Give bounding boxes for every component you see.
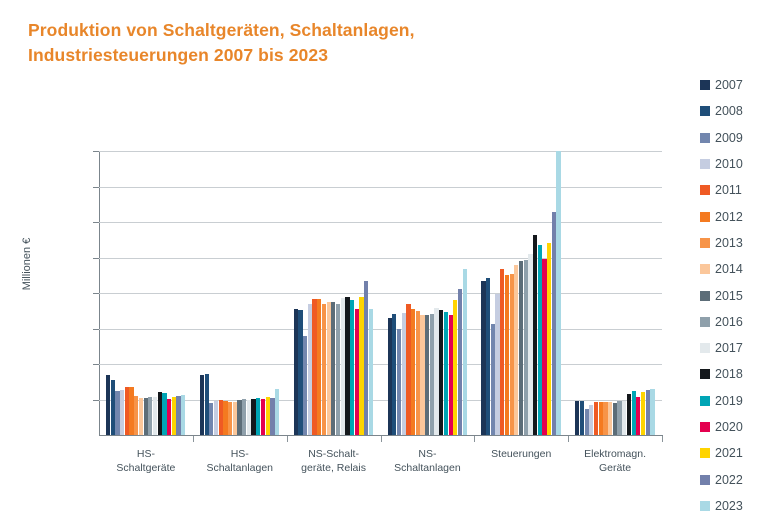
- legend-item-2010[interactable]: 2010: [700, 151, 778, 177]
- bar[interactable]: [322, 304, 326, 435]
- legend-item-2007[interactable]: 2007: [700, 72, 778, 98]
- legend-label: 2019: [715, 394, 743, 408]
- bar[interactable]: [341, 298, 345, 435]
- bar[interactable]: [495, 294, 499, 435]
- x-axis-divider: [568, 436, 569, 442]
- bar[interactable]: [327, 302, 331, 435]
- legend-item-2012[interactable]: 2012: [700, 203, 778, 229]
- bar[interactable]: [125, 387, 129, 435]
- legend-item-2020[interactable]: 2020: [700, 414, 778, 440]
- bar[interactable]: [200, 375, 204, 435]
- legend-label: 2014: [715, 262, 743, 276]
- bar[interactable]: [106, 375, 110, 435]
- bar[interactable]: [458, 289, 462, 435]
- bar[interactable]: [317, 299, 321, 435]
- legend-swatch-icon: [700, 159, 710, 169]
- bar-group: [474, 151, 568, 435]
- bar[interactable]: [402, 313, 406, 435]
- bar[interactable]: [430, 314, 434, 435]
- x-axis-divider: [381, 436, 382, 442]
- bar[interactable]: [632, 391, 636, 435]
- bar[interactable]: [345, 297, 349, 435]
- legend-swatch-icon: [700, 317, 710, 327]
- legend-swatch-icon: [700, 185, 710, 195]
- bar[interactable]: [214, 401, 218, 435]
- bar[interactable]: [355, 309, 359, 435]
- bar[interactable]: [646, 390, 650, 435]
- bar[interactable]: [524, 260, 528, 435]
- legend-label: 2015: [715, 289, 743, 303]
- bar[interactable]: [627, 394, 631, 435]
- bar[interactable]: [369, 309, 373, 435]
- legend-swatch-icon: [700, 369, 710, 379]
- bar[interactable]: [388, 318, 392, 435]
- legend-item-2008[interactable]: 2008: [700, 98, 778, 124]
- bar[interactable]: [205, 374, 209, 435]
- bar[interactable]: [364, 281, 368, 435]
- bar[interactable]: [416, 311, 420, 435]
- bar[interactable]: [233, 402, 237, 435]
- y-axis-title: Millionen €: [21, 209, 33, 319]
- bar[interactable]: [500, 269, 504, 435]
- bar[interactable]: [542, 259, 546, 435]
- bar[interactable]: [266, 397, 270, 435]
- legend-item-2009[interactable]: 2009: [700, 125, 778, 151]
- bar[interactable]: [463, 269, 467, 435]
- x-axis-category-label: HS- Schaltanlagen: [193, 447, 287, 475]
- x-axis-divider: [287, 436, 288, 442]
- bar[interactable]: [115, 391, 119, 435]
- bar[interactable]: [533, 235, 537, 435]
- bar[interactable]: [172, 397, 176, 435]
- bar[interactable]: [158, 392, 162, 435]
- bar[interactable]: [641, 392, 645, 435]
- bar[interactable]: [237, 400, 241, 435]
- bar[interactable]: [613, 403, 617, 435]
- legend-swatch-icon: [700, 133, 710, 143]
- legend-label: 2011: [715, 183, 742, 197]
- bar[interactable]: [397, 329, 401, 435]
- bar[interactable]: [406, 304, 410, 435]
- bar[interactable]: [303, 336, 307, 435]
- bar[interactable]: [636, 397, 640, 435]
- bar[interactable]: [308, 304, 312, 435]
- legend-swatch-icon: [700, 238, 710, 248]
- legend-label: 2007: [715, 78, 743, 92]
- legend-label: 2016: [715, 315, 743, 329]
- legend-label: 2010: [715, 157, 743, 171]
- bar[interactable]: [528, 254, 532, 435]
- bar[interactable]: [162, 393, 166, 435]
- bar[interactable]: [514, 265, 518, 435]
- bar[interactable]: [617, 401, 621, 435]
- bar[interactable]: [209, 403, 213, 435]
- legend-item-2011[interactable]: 2011: [700, 177, 778, 203]
- legend-swatch-icon: [700, 422, 710, 432]
- bar[interactable]: [350, 300, 354, 435]
- bar-group: [193, 151, 287, 435]
- legend-item-2016[interactable]: 2016: [700, 309, 778, 335]
- legend-label: 2023: [715, 499, 743, 513]
- bar[interactable]: [603, 402, 607, 435]
- bar[interactable]: [139, 398, 143, 435]
- bar[interactable]: [275, 389, 279, 435]
- x-axis-divider: [193, 436, 194, 442]
- legend-label: 2013: [715, 236, 743, 250]
- bar[interactable]: [134, 396, 138, 435]
- bar[interactable]: [331, 302, 335, 435]
- bar[interactable]: [449, 315, 453, 435]
- bar[interactable]: [251, 399, 255, 435]
- legend-item-2017[interactable]: 2017: [700, 335, 778, 361]
- bar-group: [99, 151, 193, 435]
- bar[interactable]: [223, 401, 227, 435]
- bar[interactable]: [336, 304, 340, 435]
- legend-swatch-icon: [700, 501, 710, 511]
- bar[interactable]: [242, 399, 246, 435]
- bar[interactable]: [312, 299, 316, 435]
- bar[interactable]: [556, 151, 560, 435]
- bar[interactable]: [261, 399, 265, 435]
- bar[interactable]: [547, 243, 551, 435]
- bar[interactable]: [486, 278, 490, 435]
- bar[interactable]: [505, 275, 509, 435]
- legend-swatch-icon: [700, 106, 710, 116]
- legend-swatch-icon: [700, 396, 710, 406]
- bar[interactable]: [453, 300, 457, 435]
- bar[interactable]: [228, 402, 232, 435]
- bar[interactable]: [111, 380, 115, 435]
- bar[interactable]: [392, 314, 396, 435]
- bar[interactable]: [153, 397, 157, 435]
- legend-item-2022[interactable]: 2022: [700, 466, 778, 492]
- x-axis-category-label: HS- Schaltgeräte: [99, 447, 193, 475]
- chart-container: Millionen € 8000,07000,06000,05000,04000…: [0, 0, 700, 529]
- x-axis-category-label: Steuerungen: [474, 447, 568, 461]
- bar[interactable]: [219, 400, 223, 435]
- bar[interactable]: [425, 315, 429, 435]
- bar[interactable]: [519, 261, 523, 435]
- bar-group: [381, 151, 475, 435]
- bar[interactable]: [650, 389, 654, 435]
- legend-label: 2022: [715, 473, 743, 487]
- plot-area: [99, 151, 662, 435]
- bar[interactable]: [176, 396, 180, 435]
- legend-swatch-icon: [700, 291, 710, 301]
- legend-swatch-icon: [700, 212, 710, 222]
- bar[interactable]: [247, 400, 251, 436]
- bar[interactable]: [359, 297, 363, 435]
- bar[interactable]: [411, 309, 415, 435]
- legend-label: 2012: [715, 210, 743, 224]
- bar[interactable]: [181, 395, 185, 435]
- bar[interactable]: [129, 387, 133, 435]
- bar[interactable]: [599, 402, 603, 435]
- legend-label: 2017: [715, 341, 743, 355]
- bar[interactable]: [420, 315, 424, 435]
- x-axis-divider: [662, 436, 663, 442]
- bar[interactable]: [585, 409, 589, 435]
- legend-item-2018[interactable]: 2018: [700, 361, 778, 387]
- legend-swatch-icon: [700, 80, 710, 90]
- legend-label: 2009: [715, 131, 743, 145]
- legend-item-2021[interactable]: 2021: [700, 440, 778, 466]
- legend: 2007200820092010201120122013201420152016…: [700, 72, 778, 519]
- legend-swatch-icon: [700, 475, 710, 485]
- x-axis-divider: [474, 436, 475, 442]
- legend-label: 2018: [715, 367, 743, 381]
- legend-swatch-icon: [700, 448, 710, 458]
- bar[interactable]: [444, 312, 448, 435]
- bar[interactable]: [538, 245, 542, 435]
- legend-item-2014[interactable]: 2014: [700, 256, 778, 282]
- legend-swatch-icon: [700, 264, 710, 274]
- bar[interactable]: [294, 309, 298, 435]
- legend-label: 2021: [715, 446, 743, 460]
- bar[interactable]: [608, 402, 612, 435]
- legend-label: 2020: [715, 420, 743, 434]
- legend-item-2019[interactable]: 2019: [700, 388, 778, 414]
- bar[interactable]: [510, 274, 514, 435]
- bar[interactable]: [491, 324, 495, 435]
- bar[interactable]: [120, 390, 124, 435]
- x-axis-category-label: Elektromagn. Geräte: [568, 447, 662, 475]
- bar[interactable]: [270, 398, 274, 435]
- bar[interactable]: [580, 401, 584, 435]
- bar[interactable]: [552, 212, 556, 435]
- bar[interactable]: [144, 398, 148, 435]
- bar-group: [287, 151, 381, 435]
- bar[interactable]: [439, 310, 443, 435]
- bar[interactable]: [622, 401, 626, 435]
- bar[interactable]: [481, 281, 485, 435]
- legend-label: 2008: [715, 104, 743, 118]
- bar[interactable]: [167, 399, 171, 435]
- bar[interactable]: [298, 310, 302, 435]
- legend-item-2023[interactable]: 2023: [700, 493, 778, 519]
- bar-group: [568, 151, 662, 435]
- bar[interactable]: [575, 401, 579, 435]
- legend-item-2015[interactable]: 2015: [700, 282, 778, 308]
- x-axis-category-label: NS-Schalt- geräte, Relais: [287, 447, 381, 475]
- bar[interactable]: [148, 397, 152, 435]
- bar[interactable]: [594, 402, 598, 435]
- bar[interactable]: [589, 405, 593, 435]
- legend-swatch-icon: [700, 343, 710, 353]
- bar[interactable]: [434, 308, 438, 435]
- bar[interactable]: [256, 398, 260, 435]
- x-axis-category-label: NS- Schaltanlagen: [381, 447, 475, 475]
- legend-item-2013[interactable]: 2013: [700, 230, 778, 256]
